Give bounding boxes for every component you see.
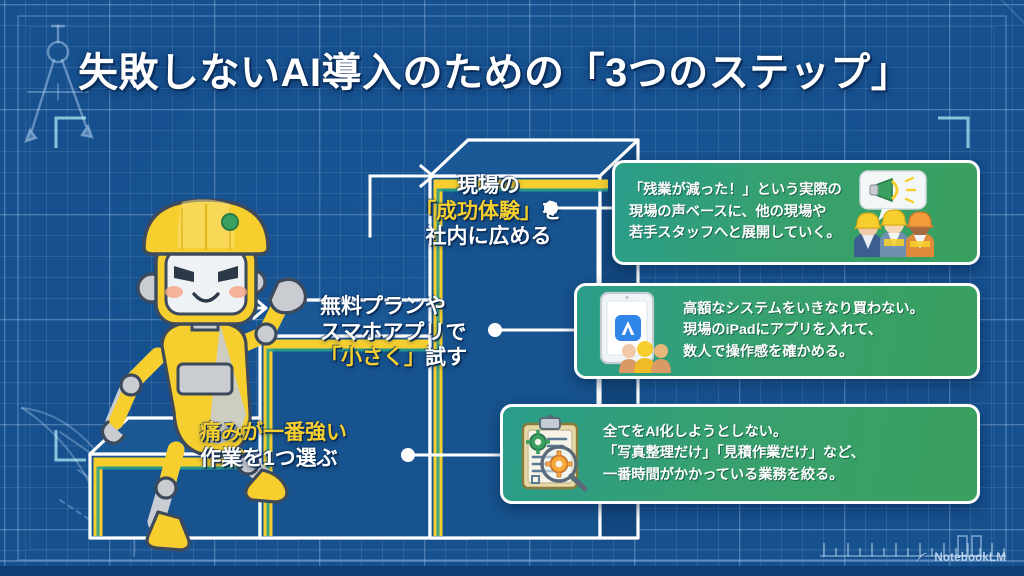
step-3-card-line-2: 現場の声ベースに、他の現場や [629, 202, 842, 224]
tablet-appstore-users-icon [587, 289, 673, 373]
step-3-card[interactable]: 「残業が減った！」という実際の 現場の声ベースに、他の現場や 若手スタッフへと展… [612, 160, 980, 265]
step-3-card-text: 「残業が減った！」という実際の 現場の声ベースに、他の現場や 若手スタッフへと展… [629, 180, 842, 245]
step-1-card-line-2: 「写真整理だけ」「見積作業だけ」など、 [603, 443, 865, 465]
clipboard-gear-magnifier-icon [513, 414, 593, 494]
notebooklm-logo-icon [916, 551, 929, 564]
step-1-card[interactable]: 全てをAI化しようとしない。 「写真整理だけ」「見積作業だけ」など、 一番時間が… [500, 404, 980, 504]
megaphone-workers-icon [848, 169, 934, 257]
step-2-card-line-2: 現場のiPadにアプリを入れて、 [683, 320, 924, 342]
step-2-card-text: 高額なシステムをいきなり買わない。 現場のiPadにアプリを入れて、 数人で操作… [683, 299, 924, 364]
step-1-card-text: 全てをAI化しようとしない。 「写真整理だけ」「見積作業だけ」など、 一番時間が… [603, 422, 865, 487]
step-3-card-line-1: 「残業が減った！」という実際の [629, 180, 842, 202]
infographic-canvas: 失敗しないAI導入のための「3つのステップ」 [0, 0, 1024, 576]
notebooklm-logo-text: NotebookLM [934, 552, 1006, 564]
step-2-card[interactable]: 高額なシステムをいきなり買わない。 現場のiPadにアプリを入れて、 数人で操作… [574, 283, 980, 379]
step-2-card-line-1: 高額なシステムをいきなり買わない。 [683, 299, 924, 321]
step-2-card-line-3: 数人で操作感を確かめる。 [683, 342, 924, 364]
step-3-card-line-3: 若手スタッフへと展開していく。 [629, 223, 842, 245]
notebooklm-logo: NotebookLM [916, 551, 1006, 564]
step-1-card-line-3: 一番時間がかかっている業務を絞る。 [603, 465, 865, 487]
step-1-card-line-1: 全てをAI化しようとしない。 [603, 422, 865, 444]
